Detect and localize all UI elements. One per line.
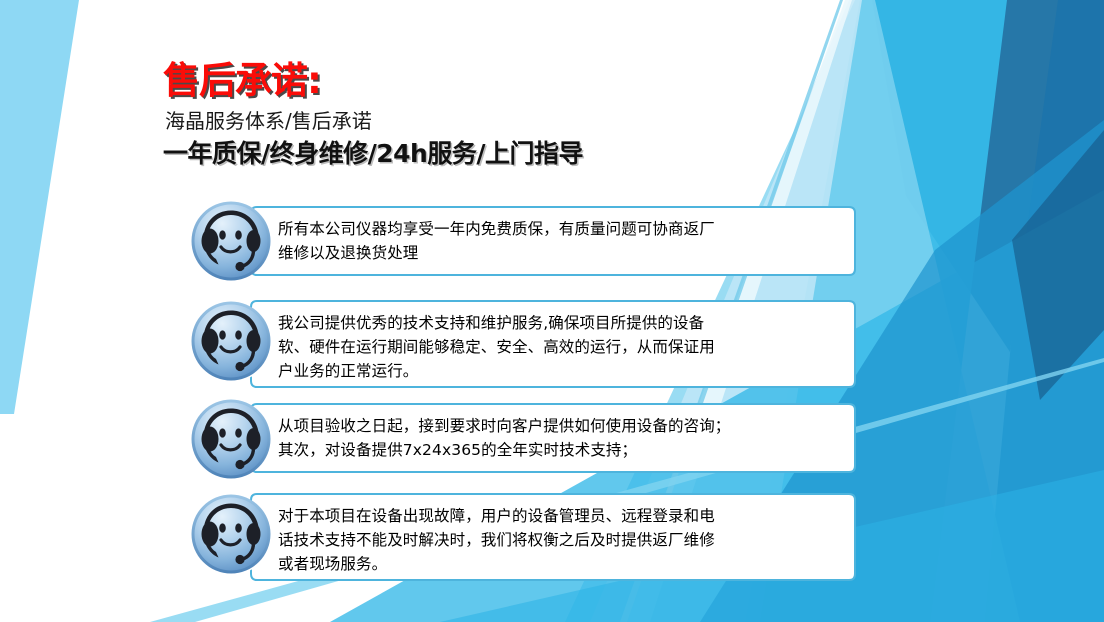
- breadcrumb: 海晶服务体系/售后承诺: [165, 109, 583, 133]
- headset-smiley-icon: [190, 398, 272, 480]
- page-title: 售后承诺:: [163, 62, 583, 101]
- callout-text: 我公司提供优秀的技术支持和维护服务,确保项目所提供的设备 软、硬件在运行期间能够…: [264, 302, 868, 391]
- service-promise-item[interactable]: 所有本公司仪器均享受一年内免费质保，有质量问题可协商返厂 维修以及退换货处理: [190, 200, 790, 284]
- headset-smiley-icon: [190, 300, 272, 382]
- service-promise-item[interactable]: 从项目验收之日起，接到要求时向客户提供如何使用设备的咨询； 其次，对设备提供7x…: [190, 398, 790, 482]
- page-header: 售后承诺: 海晶服务体系/售后承诺 一年质保/终身维修/24h服务/上门指导: [163, 62, 583, 169]
- page-tagline: 一年质保/终身维修/24h服务/上门指导: [163, 140, 583, 169]
- headset-smiley-icon: [190, 200, 272, 282]
- headset-smiley-icon: [190, 493, 272, 575]
- callout-text: 所有本公司仪器均享受一年内免费质保，有质量问题可协商返厂 维修以及退换货处理: [264, 208, 868, 273]
- callout-text: 对于本项目在设备出现故障，用户的设备管理员、远程登录和电 话技术支持不能及时解决…: [264, 495, 868, 584]
- service-promise-item[interactable]: 我公司提供优秀的技术支持和维护服务,确保项目所提供的设备 软、硬件在运行期间能够…: [190, 295, 790, 397]
- service-promise-item[interactable]: 对于本项目在设备出现故障，用户的设备管理员、远程登录和电 话技术支持不能及时解决…: [190, 488, 790, 590]
- slide-canvas: 售后承诺: 海晶服务体系/售后承诺 一年质保/终身维修/24h服务/上门指导 所…: [0, 0, 1104, 622]
- callout-text: 从项目验收之日起，接到要求时向客户提供如何使用设备的咨询； 其次，对设备提供7x…: [264, 405, 868, 470]
